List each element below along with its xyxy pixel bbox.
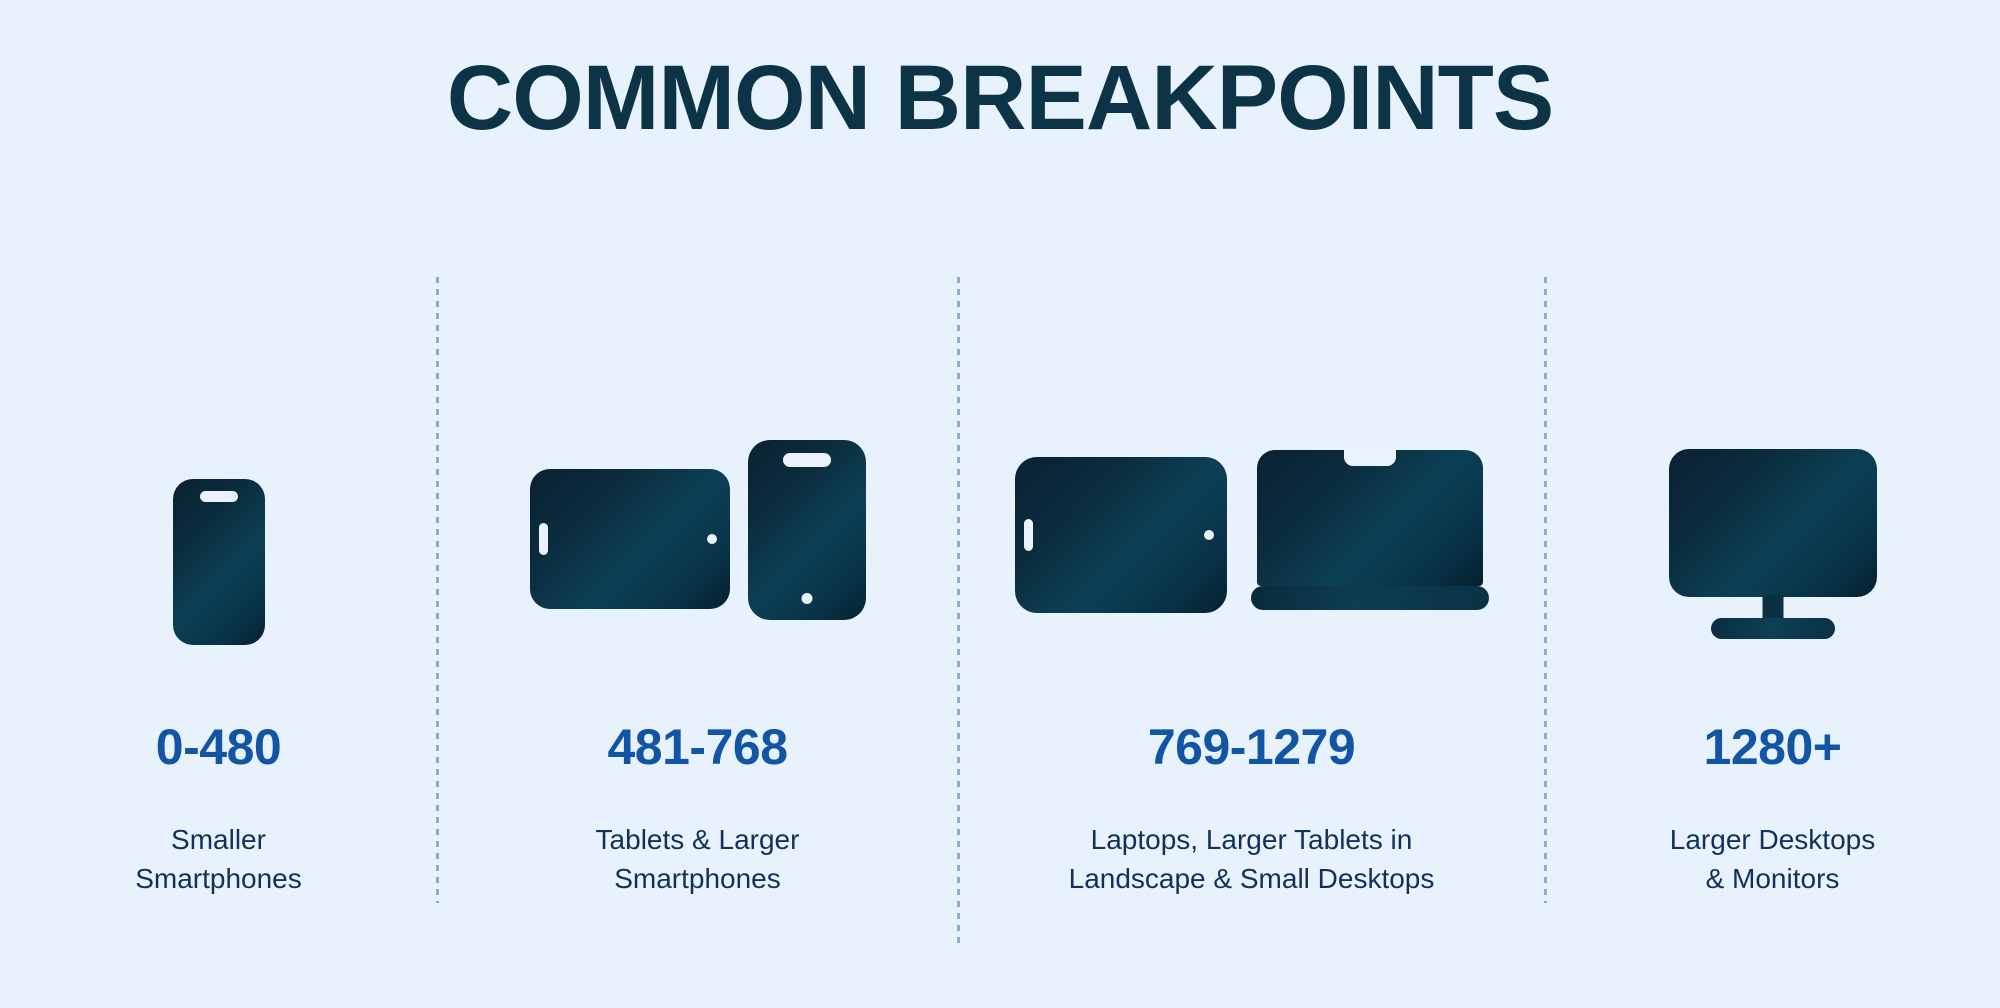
- tablet-landscape-icon: [1015, 457, 1227, 613]
- breakpoint-column-769-1279: 769-1279 Laptops, Larger Tablets in Land…: [958, 0, 1545, 1008]
- tablet-side-button-icon: [1024, 519, 1033, 551]
- laptop-screen-icon: [1257, 450, 1483, 586]
- breakpoint-range-label: 769-1279: [958, 718, 1545, 776]
- breakpoint-description: Larger Desktops & Monitors: [1545, 820, 2000, 898]
- description-line: Landscape & Small Desktops: [958, 859, 1545, 898]
- laptop-notch-icon: [1344, 450, 1396, 466]
- device-illustrations-481-768: [437, 415, 958, 645]
- phone-home-dot-icon: [801, 593, 812, 604]
- description-line: Smartphones: [0, 859, 437, 898]
- smartphone-icon: [173, 479, 265, 645]
- breakpoint-description: Laptops, Larger Tablets in Landscape & S…: [958, 820, 1545, 898]
- breakpoint-column-481-768: 481-768 Tablets & Larger Smartphones: [437, 0, 958, 1008]
- column-divider: [1544, 277, 1547, 903]
- breakpoint-column-0-480: 0-480 Smaller Smartphones: [0, 0, 437, 1008]
- description-line: & Monitors: [1545, 859, 2000, 898]
- description-line: Laptops, Larger Tablets in: [958, 820, 1545, 859]
- laptop-icon: [1251, 450, 1489, 610]
- phone-dynamic-island-icon: [783, 453, 831, 467]
- monitor-base-icon: [1711, 618, 1835, 639]
- column-divider: [436, 277, 439, 903]
- tablet-camera-dot-icon: [1204, 530, 1214, 540]
- column-divider: [957, 277, 960, 945]
- tablet-side-button-icon: [539, 523, 548, 555]
- breakpoint-description: Smaller Smartphones: [0, 820, 437, 898]
- tablet-landscape-icon: [530, 469, 730, 609]
- tablet-camera-dot-icon: [707, 534, 717, 544]
- monitor-icon: [1669, 449, 1877, 639]
- description-line: Tablets & Larger: [437, 820, 958, 859]
- breakpoint-range-label: 0-480: [0, 718, 437, 776]
- breakpoint-column-1280-plus: 1280+ Larger Desktops & Monitors: [1545, 0, 2000, 1008]
- breakpoint-columns: 0-480 Smaller Smartphones 481-768 Table: [0, 0, 2000, 1008]
- breakpoint-range-label: 481-768: [437, 718, 958, 776]
- monitor-screen-icon: [1669, 449, 1877, 597]
- device-illustrations-1280-plus: [1545, 429, 2000, 659]
- phone-dynamic-island-icon: [200, 491, 238, 502]
- smartphone-large-icon: [748, 440, 866, 620]
- description-line: Smartphones: [437, 859, 958, 898]
- breakpoints-infographic: COMMON BREAKPOINTS 0-480 Smaller Smartph…: [0, 0, 2000, 1008]
- description-line: Smaller: [0, 820, 437, 859]
- device-illustrations-0-480: [0, 415, 437, 645]
- description-line: Larger Desktops: [1545, 820, 2000, 859]
- laptop-base-icon: [1251, 586, 1489, 610]
- device-illustrations-769-1279: [958, 415, 1545, 645]
- breakpoint-description: Tablets & Larger Smartphones: [437, 820, 958, 898]
- breakpoint-range-label: 1280+: [1545, 718, 2000, 776]
